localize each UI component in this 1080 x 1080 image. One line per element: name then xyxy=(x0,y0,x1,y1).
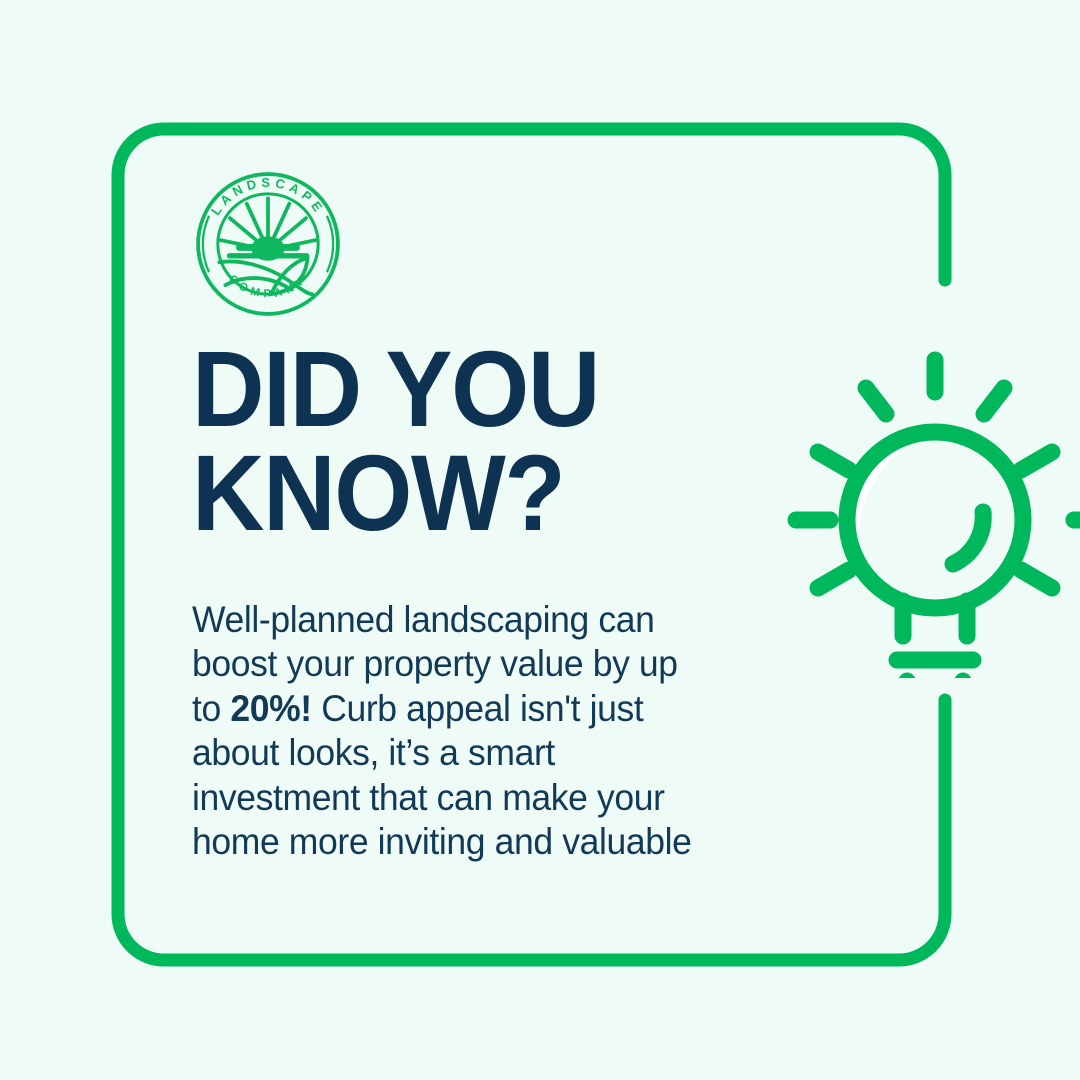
logo-bottom-text: COMPANY xyxy=(226,273,310,300)
lightbulb-icon xyxy=(770,348,1080,678)
landscape-company-logo[interactable]: LANDSCAPE COMPANY xyxy=(192,168,344,320)
lightbulb-rays xyxy=(796,360,1080,588)
bulb-globe xyxy=(847,432,1023,608)
sun-core xyxy=(227,236,309,260)
page-title: DID YOU KNOW? xyxy=(192,337,713,544)
body-paragraph: Well-planned landscaping can boost your … xyxy=(192,598,715,864)
bulb-inner-arc xyxy=(953,512,983,564)
body-highlight-value: 20%! xyxy=(230,688,311,729)
poster-canvas: LANDSCAPE COMPANY DID YOU KNOW? Well-pla… xyxy=(0,0,1080,1080)
